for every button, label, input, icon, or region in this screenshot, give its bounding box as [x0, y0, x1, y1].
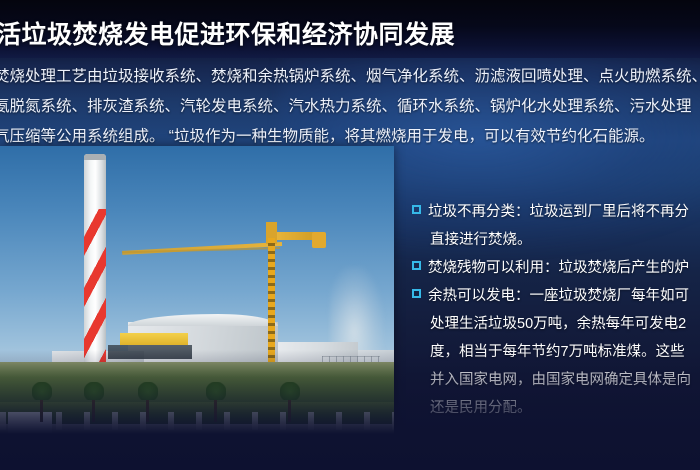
hollow-square-bullet-icon: [412, 261, 421, 270]
bullet-item-2-line-1: 焚烧残物可以利用：垃圾焚烧后产生的炉: [428, 260, 689, 276]
photo-tree: [40, 392, 43, 422]
bullet-item-1: 垃圾不再分类：垃圾运到厂里后将不再分: [412, 198, 700, 226]
photo-chimney-cap: [84, 154, 106, 160]
bullet-item-3: 余热可以发电：一座垃圾焚烧厂每年如可: [412, 282, 700, 310]
presentation-slide: 活垃圾焚烧发电促进环保和经济协同发展 焚烧处理工艺由垃圾接收系统、焚烧和余热锅炉…: [0, 0, 700, 470]
bullet-item-3-line-4: 并入国家电网，由国家电网确定具体是向: [430, 372, 691, 388]
bullet-item-1-cont: 直接进行焚烧。: [412, 226, 700, 254]
bullet-item-3-cont-1: 处理生活垃圾50万吨，余热每年可发电2: [412, 310, 700, 338]
photo-dark-facade-band: [108, 345, 192, 359]
bullet-item-3-line-5: 还是民用分配。: [430, 400, 532, 416]
bullet-item-3-line-3: 度，相当于每年节约7万吨标准煤。这些: [430, 344, 685, 360]
photo-tree: [214, 392, 217, 422]
bullet-item-3-cont-3: 并入国家电网，由国家电网确定具体是向: [412, 366, 700, 394]
hollow-square-bullet-icon: [412, 205, 421, 214]
bullet-item-3-cont-2: 度，相当于每年节约7万吨标准煤。这些: [412, 338, 700, 366]
slide-body-paragraph: 焚烧处理工艺由垃圾接收系统、焚烧和余热锅炉系统、烟气净化系统、沥滤液回喷处理、点…: [0, 62, 700, 152]
photo-guard-shed: [8, 412, 52, 438]
bullet-list: 垃圾不再分类：垃圾运到厂里后将不再分 直接进行焚烧。 焚烧残物可以利用：垃圾焚烧…: [412, 198, 700, 422]
photo-tree: [146, 392, 149, 422]
plant-photo: 高安屯生活垃圾焚烧发电: [0, 146, 394, 448]
bullet-item-3-line-1: 余热可以发电：一座垃圾焚烧厂每年如可: [428, 288, 689, 304]
bullet-item-3-line-2: 处理生活垃圾50万吨，余热每年可发电2: [430, 316, 686, 332]
slide-title: 活垃圾焚烧发电促进环保和经济协同发展: [0, 20, 516, 50]
photo-tree: [288, 392, 291, 422]
bullet-item-3-cont-4: 还是民用分配。: [412, 394, 700, 422]
bullet-item-1-line-2: 直接进行焚烧。: [430, 232, 532, 248]
bullet-item-1-line-1: 垃圾不再分类：垃圾运到厂里后将不再分: [428, 204, 689, 220]
body-line-2: 氨脱氮系统、排灰渣系统、汽轮发电系统、汽水热力系统、循环水系统、锅炉化水处理系统…: [0, 92, 700, 122]
body-line-1: 焚烧处理工艺由垃圾接收系统、焚烧和余热锅炉系统、烟气净化系统、沥滤液回喷处理、点…: [0, 62, 700, 92]
bullet-item-2: 焚烧残物可以利用：垃圾焚烧后产生的炉: [412, 254, 700, 282]
photo-crane-counterweight: [312, 232, 326, 248]
photo-fence: [0, 412, 394, 430]
photo-yellow-facade-band: [120, 333, 188, 345]
photo-tree: [92, 392, 95, 422]
hollow-square-bullet-icon: [412, 289, 421, 298]
